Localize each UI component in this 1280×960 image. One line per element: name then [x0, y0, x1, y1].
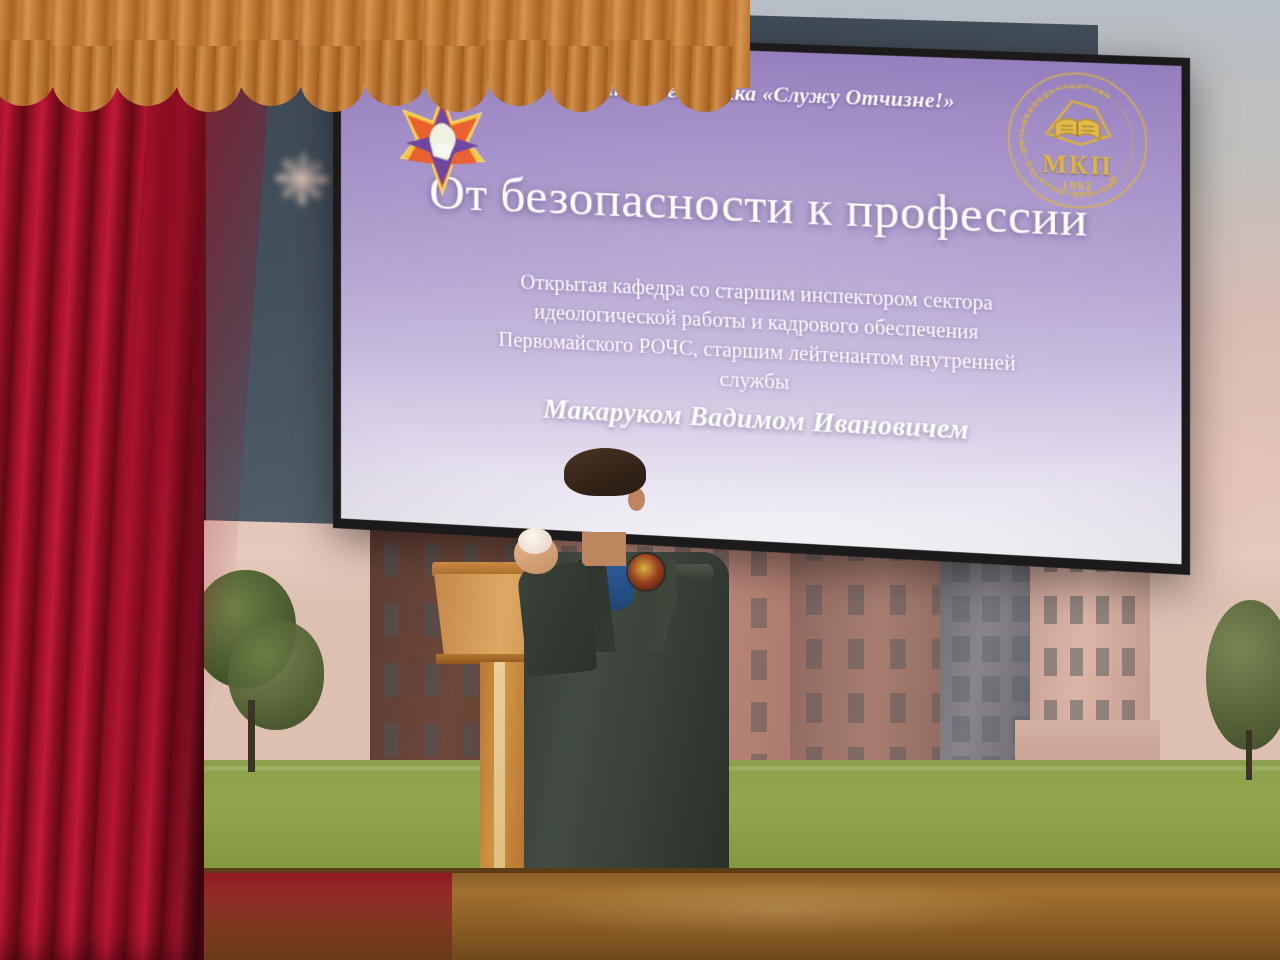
- speaker-held-object: [518, 528, 552, 554]
- screen-vignette: [341, 36, 1182, 564]
- mural-window: [1070, 596, 1083, 624]
- speaker-arm: [516, 561, 597, 678]
- mural-window: [1044, 596, 1057, 624]
- mural-window: [1122, 596, 1135, 624]
- mural-window: [1012, 676, 1030, 702]
- valance-scallop: [424, 46, 490, 112]
- valance-scallop: [300, 46, 366, 112]
- auditorium-stage-scene: В рамках месячника «Служу Отчизне!» От б…: [0, 0, 1280, 960]
- mural-window: [890, 585, 906, 615]
- mural-window: [890, 639, 906, 669]
- mural-window: [952, 636, 970, 662]
- valance-scallop: [52, 46, 118, 112]
- valance-scallop: [672, 46, 738, 112]
- mural-window: [1096, 596, 1109, 624]
- mural-window: [952, 676, 970, 702]
- valance-scallop: [176, 46, 242, 112]
- mural-window: [952, 716, 970, 742]
- mural-window: [806, 693, 822, 723]
- mural-window: [1096, 648, 1109, 676]
- stage-floor-sheen: [430, 880, 1130, 950]
- speaker-hair: [564, 448, 646, 496]
- mural-window: [806, 639, 822, 669]
- stage-valance-scallops: [0, 40, 750, 110]
- mural-window: [982, 596, 1000, 622]
- mural-window: [890, 693, 906, 723]
- valance-scallop: [362, 40, 428, 106]
- mural-window: [384, 543, 399, 577]
- mural-window: [751, 650, 767, 680]
- valance-scallop: [610, 40, 676, 106]
- mural-window: [848, 585, 864, 615]
- mural-window: [982, 716, 1000, 742]
- mural-window: [751, 702, 767, 732]
- mural-window: [982, 636, 1000, 662]
- mural-window: [848, 693, 864, 723]
- mural-window: [952, 596, 970, 622]
- mural-window: [806, 585, 822, 615]
- speaker-sleeve-patch-icon: [628, 554, 664, 590]
- mural-window: [1122, 648, 1135, 676]
- valance-scallop: [238, 40, 304, 106]
- mural-window: [384, 663, 399, 697]
- banner-star-small: [276, 152, 328, 205]
- mural-window: [384, 603, 399, 637]
- mural-window: [1044, 648, 1057, 676]
- mural-window: [384, 723, 399, 757]
- mural-window: [1070, 648, 1083, 676]
- mural-window: [848, 639, 864, 669]
- valance-scallop: [486, 40, 552, 106]
- mural-window: [1012, 596, 1030, 622]
- valance-scallop: [0, 40, 56, 106]
- valance-scallop: [114, 40, 180, 106]
- projection-screen-surface: В рамках месячника «Служу Отчизне!» От б…: [341, 36, 1182, 564]
- mural-window: [982, 676, 1000, 702]
- mural-window: [1012, 636, 1030, 662]
- valance-scallop: [548, 46, 614, 112]
- mural-window: [751, 598, 767, 628]
